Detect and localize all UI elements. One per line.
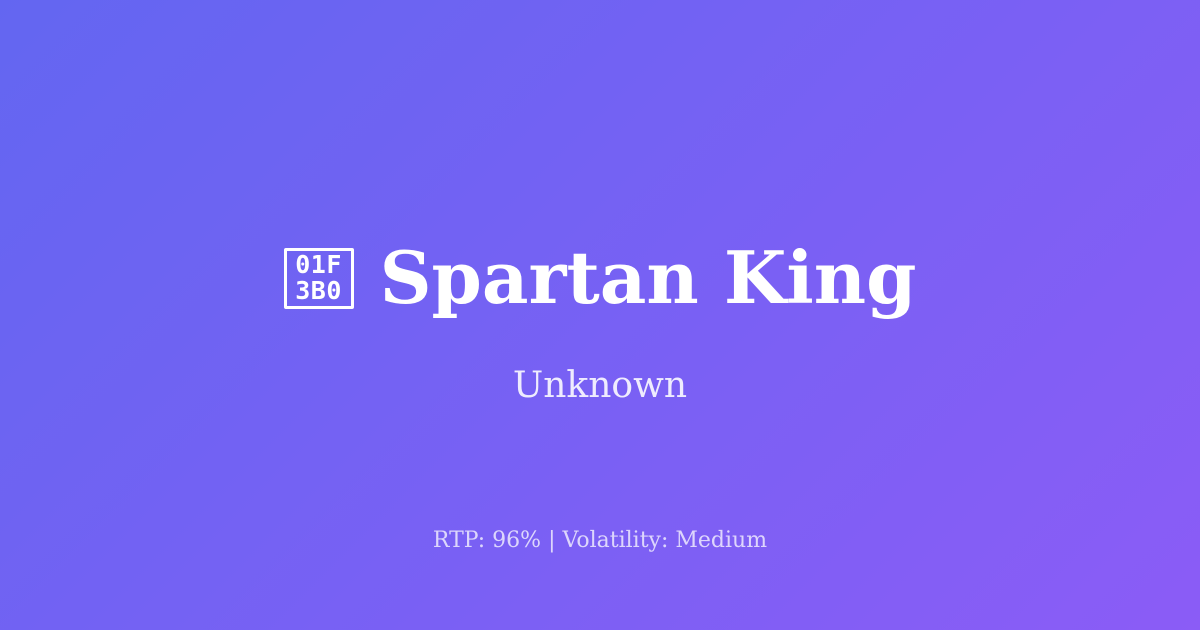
game-stats-line: RTP: 96% | Volatility: Medium <box>0 524 1200 558</box>
slot-machine-emoji: 01F 3B0 <box>284 248 354 309</box>
slot-machine-emoji-codepoint-low: 3B0 <box>295 278 342 304</box>
og-game-card: 01F 3B0 Spartan King Unknown RTP: 96% | … <box>0 0 1200 630</box>
title-row: 01F 3B0 Spartan King <box>0 230 1200 326</box>
game-provider-label: Unknown <box>0 362 1200 410</box>
page-title: Spartan King <box>380 238 917 317</box>
slot-machine-emoji-codepoint-high: 01F <box>295 252 342 278</box>
